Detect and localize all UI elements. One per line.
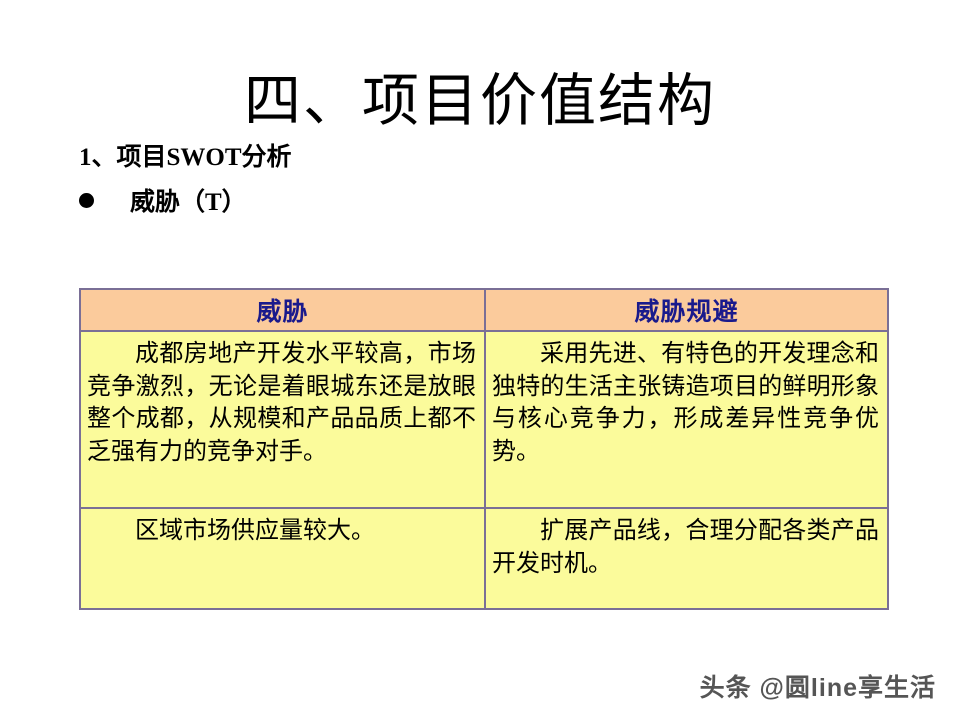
table-row: 成都房地产开发水平较高，市场竞争激烈，无论是着眼城东还是放眼整个成都，从规模和产… [80,331,888,508]
table-row: 区域市场供应量较大。 扩展产品线，合理分配各类产品开发时机。 [80,508,888,609]
column-header-threat: 威胁 [80,289,485,331]
column-header-threat-avoidance: 威胁规避 [485,289,888,331]
cell-avoidance-1: 采用先进、有特色的开发理念和独特的生活主张铸造项目的鲜明形象与核心竞争力，形成差… [485,331,888,508]
watermark: 头条 @圆line享生活 [700,668,936,704]
bullet-item-threat: 威胁（T） [79,182,247,218]
table-header-row: 威胁 威胁规避 [80,289,888,331]
bullet-item-label: 威胁（T） [130,182,247,218]
cell-threat-2: 区域市场供应量较大。 [80,508,485,609]
swot-threat-table: 威胁 威胁规避 成都房地产开发水平较高，市场竞争激烈，无论是着眼城东还是放眼整个… [79,288,889,610]
cell-threat-1: 成都房地产开发水平较高，市场竞争激烈，无论是着眼城东还是放眼整个成都，从规模和产… [80,331,485,508]
page-title: 四、项目价值结构 [0,72,960,132]
sub-heading: 1、项目SWOT分析 [79,143,292,173]
filled-circle-bullet-icon [79,193,94,208]
slide-canvas: 四、项目价值结构 1、项目SWOT分析 威胁（T） 威胁 威胁规避 成都房地产开… [0,0,960,720]
cell-avoidance-2: 扩展产品线，合理分配各类产品开发时机。 [485,508,888,609]
